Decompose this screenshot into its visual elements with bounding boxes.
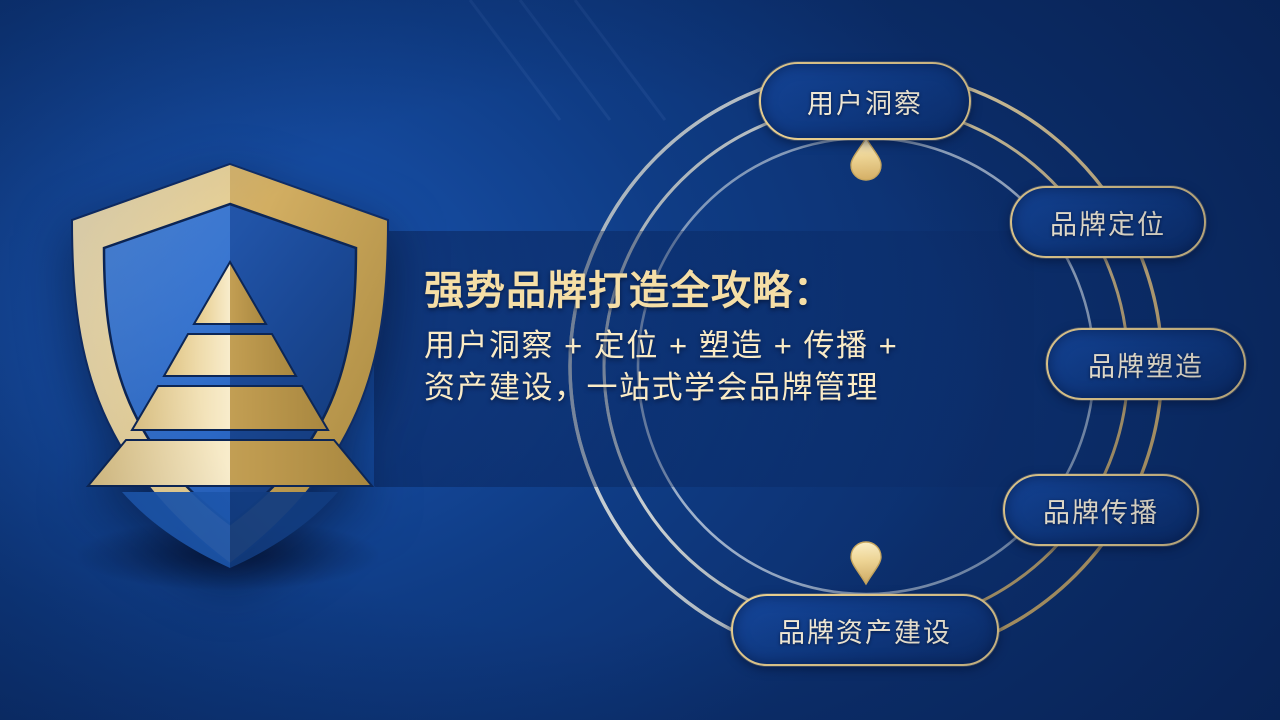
- poster-canvas: 强势品牌打造全攻略： 用户洞察 + 定位 + 塑造 + 传播 + 资产建设，一站…: [0, 0, 1280, 720]
- node-label: 品牌定位: [1050, 203, 1166, 242]
- node-label: 品牌塑造: [1088, 345, 1204, 384]
- gold-droplet-down-icon: [851, 542, 881, 584]
- shield-pyramid-emblem-icon: [60, 158, 400, 570]
- subtitle-line-2: 资产建设，一站式学会品牌管理: [424, 367, 1024, 409]
- node-user-insight[interactable]: 用户洞察: [759, 62, 971, 140]
- headline-block: 强势品牌打造全攻略： 用户洞察 + 定位 + 塑造 + 传播 + 资产建设，一站…: [424, 268, 1024, 410]
- node-label: 品牌资产建设: [778, 611, 952, 650]
- node-brand-shaping[interactable]: 品牌塑造: [1046, 328, 1246, 400]
- node-brand-assets[interactable]: 品牌资产建设: [731, 594, 999, 666]
- node-brand-position[interactable]: 品牌定位: [1010, 186, 1206, 258]
- gold-droplet-up-icon: [851, 138, 881, 180]
- node-label: 用户洞察: [807, 82, 923, 121]
- page-title: 强势品牌打造全攻略：: [424, 268, 1024, 315]
- node-brand-spread[interactable]: 品牌传播: [1003, 474, 1199, 546]
- subtitle-line-1: 用户洞察 + 定位 + 塑造 + 传播 +: [424, 325, 1024, 367]
- node-label: 品牌传播: [1043, 491, 1159, 530]
